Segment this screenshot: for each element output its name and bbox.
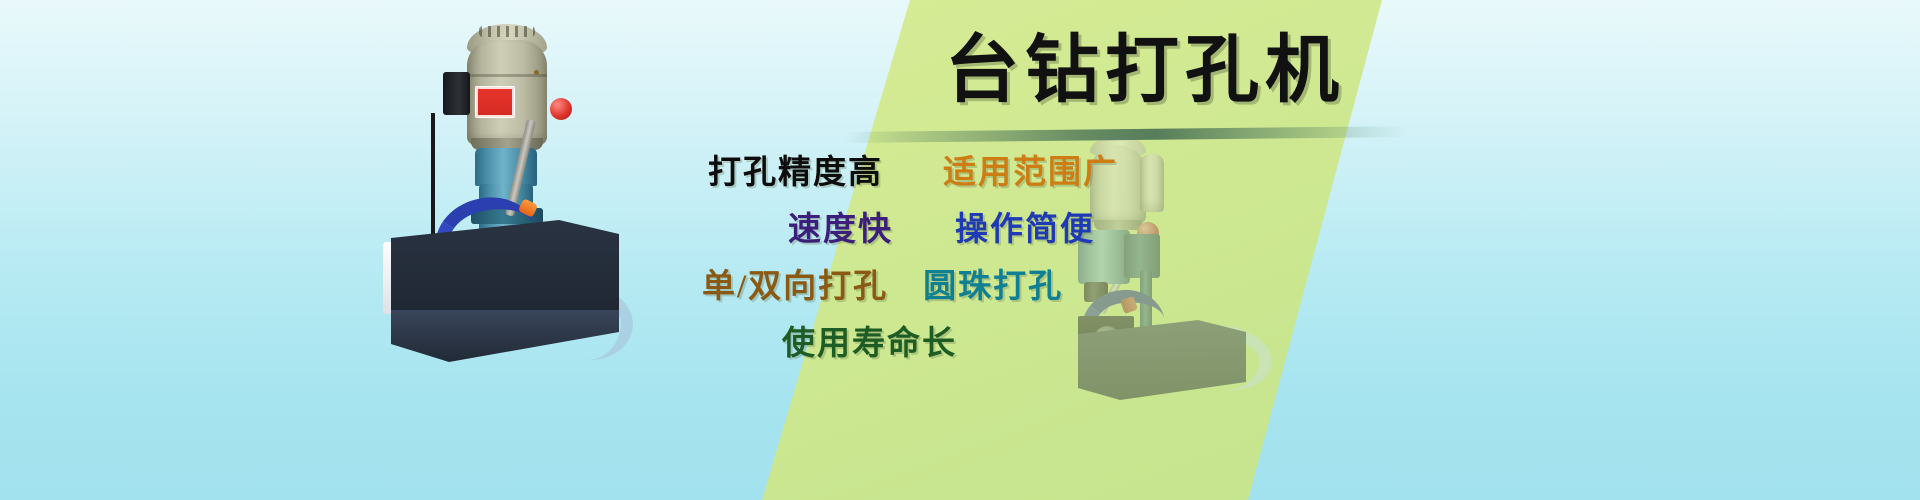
feature-list: 打孔精度高 适用范围广 速度快 操作简便 单/双向打孔 圆珠打孔 使用寿命长: [700, 145, 1400, 373]
product-banner: 台钻打孔机 打孔精度高 适用范围广 速度快 操作简便 单/双向打孔 圆珠打孔 使…: [0, 0, 1920, 500]
feature-row-2: 速度快 操作简便: [700, 202, 1400, 259]
feature-long-lifespan: 使用寿命长: [782, 316, 957, 373]
feature-single-double-direction: 单/双向打孔: [702, 259, 888, 316]
lever-knob: [550, 98, 572, 120]
feature-row-4: 使用寿命长: [700, 316, 1400, 373]
feature-bead-drilling: 圆珠打孔: [923, 259, 1063, 316]
junction-box: [443, 72, 470, 115]
feature-fast-speed: 速度快: [788, 202, 893, 259]
feature-row-3: 单/双向打孔 圆珠打孔: [700, 259, 1400, 316]
feature-high-precision: 打孔精度高: [708, 145, 883, 202]
motor-vent-slots: [479, 26, 535, 37]
page-title: 台钻打孔机: [945, 34, 1345, 108]
feature-row-1: 打孔精度高 适用范围广: [700, 145, 1400, 202]
motor-screw: [534, 70, 539, 75]
feature-easy-operation: 操作简便: [955, 202, 1095, 259]
feature-wide-application: 适用范围广: [943, 145, 1118, 202]
motor-nameplate: [475, 86, 515, 118]
bench-drill-machine-main: [375, 10, 655, 370]
